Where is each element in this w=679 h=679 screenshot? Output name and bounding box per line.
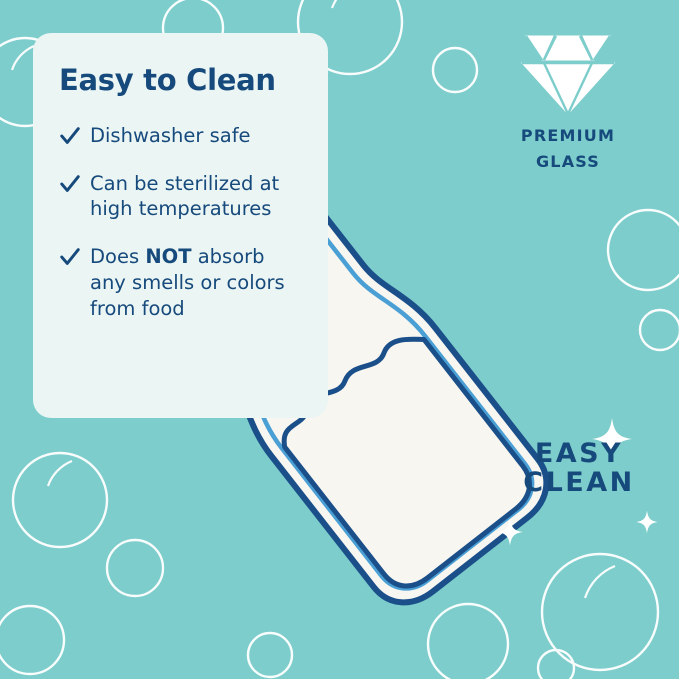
list-item-label: Does NOT absorb any smells or colors fro… — [90, 244, 304, 321]
product-feature-graphic: Easy to Clean Dishwasher safe Can be ste… — [0, 0, 679, 679]
sparkle-icon — [497, 518, 523, 546]
list-item: Dishwasher safe — [59, 123, 304, 149]
easy-clean-text: EASY CLEAN — [516, 440, 642, 499]
diamond-icon — [508, 30, 628, 116]
check-icon — [59, 125, 81, 147]
premium-badge-line1: PREMIUM — [500, 126, 636, 146]
list-item-label: Can be sterilized at high temperatures — [90, 171, 304, 222]
feature-card: Easy to Clean Dishwasher safe Can be ste… — [33, 33, 328, 418]
easy-clean-line2: CLEAN — [516, 468, 642, 498]
easy-clean-line1: EASY — [516, 440, 642, 468]
list-item: Does NOT absorb any smells or colors fro… — [59, 244, 304, 321]
premium-glass-badge: PREMIUM GLASS — [500, 30, 636, 171]
premium-badge-line2: GLASS — [500, 152, 636, 172]
sparkle-icon — [636, 510, 658, 534]
list-item-label: Dishwasher safe — [90, 123, 251, 149]
check-icon — [59, 246, 81, 268]
list-item: Can be sterilized at high temperatures — [59, 171, 304, 222]
card-title: Easy to Clean — [59, 65, 304, 97]
check-icon — [59, 173, 81, 195]
